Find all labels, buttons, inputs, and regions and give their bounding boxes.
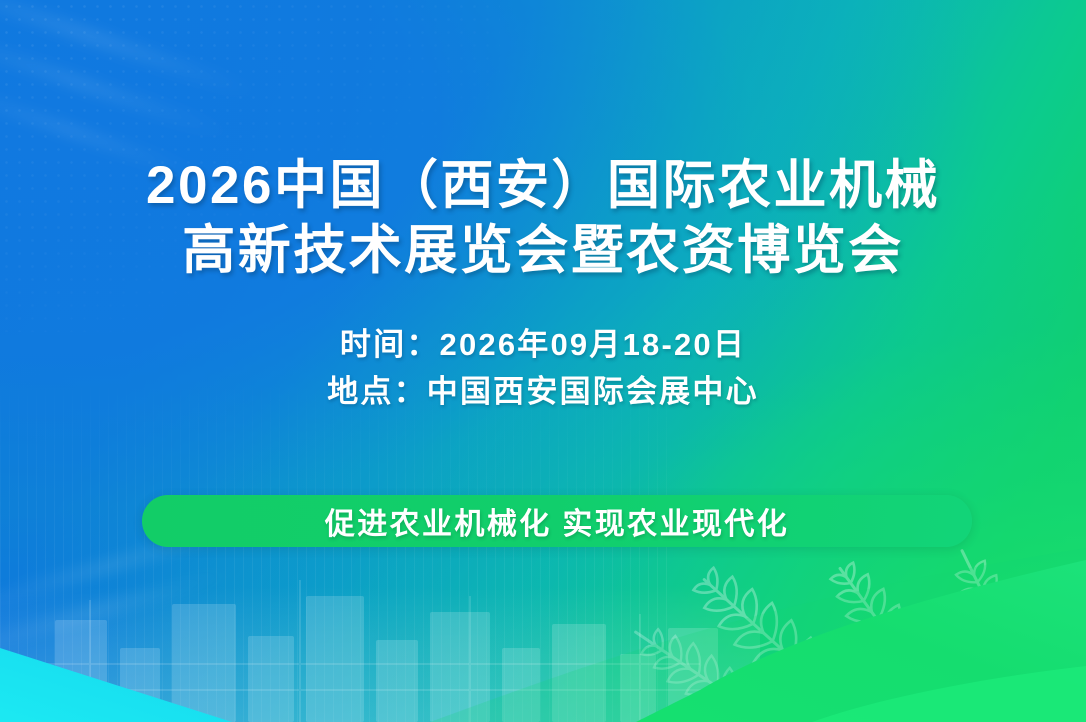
event-date: 时间：2026年09月18-20日 (327, 321, 759, 368)
banner-content: 2026中国（西安）国际农业机械 高新技术展览会暨农资博览会 时间：2026年0… (0, 0, 1086, 722)
exhibition-promo-banner: 2026中国（西安）国际农业机械 高新技术展览会暨农资博览会 时间：2026年0… (0, 0, 1086, 722)
event-venue: 地点：中国西安国际会展中心 (327, 368, 759, 415)
event-details: 时间：2026年09月18-20日 地点：中国西安国际会展中心 (327, 321, 759, 415)
slogan-banner: 促进农业机械化 实现农业现代化 (142, 495, 972, 547)
title-line-2: 高新技术展览会暨农资博览会 (146, 219, 940, 284)
slogan-text: 促进农业机械化 实现农业现代化 (325, 499, 789, 543)
banner-title: 2026中国（西安）国际农业机械 高新技术展览会暨农资博览会 (146, 154, 940, 283)
title-line-1: 2026中国（西安）国际农业机械 (146, 154, 940, 219)
